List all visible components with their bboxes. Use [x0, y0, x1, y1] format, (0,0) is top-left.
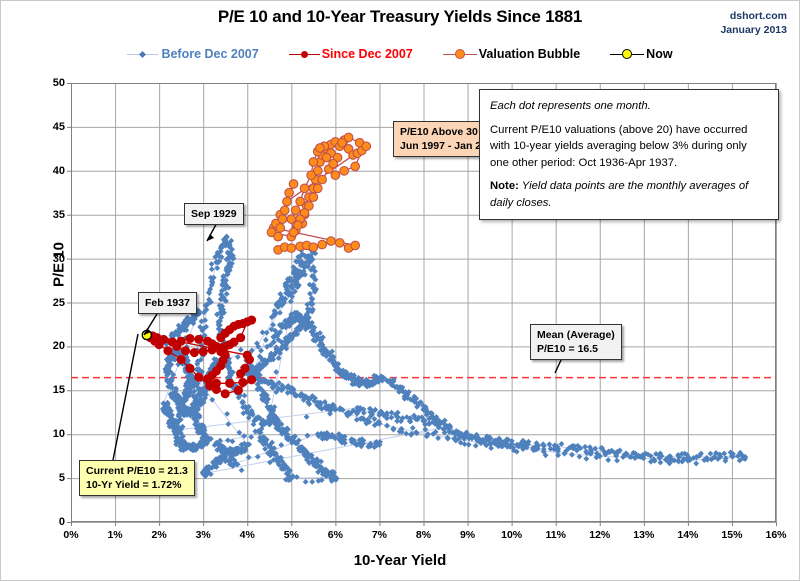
annotation-feb-1937: Feb 1937	[138, 292, 197, 314]
y-axis-tick: 45	[53, 121, 65, 133]
legend-line-icon	[443, 54, 455, 55]
x-axis-tick: 12%	[589, 529, 610, 541]
legend-marker-icon	[455, 49, 465, 59]
x-axis-tick: 15%	[721, 529, 742, 541]
y-axis-tick: 15	[53, 384, 65, 396]
y-axis-tick: 50	[53, 77, 65, 89]
legend-label: Before Dec 2007	[161, 47, 258, 61]
y-axis-tick: 20	[53, 340, 65, 352]
legend-line-icon	[289, 54, 301, 55]
x-axis-tick: 13%	[633, 529, 654, 541]
x-axis-tick: 8%	[416, 529, 431, 541]
annotation-line-2: 10-Yr Yield = 1.72%	[86, 478, 188, 492]
chart-title: P/E 10 and 10-Year Treasury Yields Since…	[1, 7, 799, 27]
info-note-text: Yield data points are the monthly averag…	[490, 180, 748, 209]
y-axis-tick: 5	[59, 472, 65, 484]
legend-line-icon	[146, 54, 158, 55]
y-axis-tick: 25	[53, 297, 65, 309]
x-axis-title: 10-Year Yield	[1, 552, 799, 569]
annotation-current: Current P/E10 = 21.3 10-Yr Yield = 1.72%	[79, 460, 195, 496]
legend-item-now[interactable]: Now	[610, 47, 672, 61]
y-axis-tick: 0	[59, 516, 65, 528]
info-line-3: Note: Yield data points are the monthly …	[490, 178, 768, 211]
x-axis-tick: 10%	[501, 529, 522, 541]
credit-date: January 2013	[720, 23, 787, 37]
info-line-1: Each dot represents one month.	[490, 98, 768, 115]
legend-line-icon	[308, 54, 320, 55]
x-axis-tick: 11%	[545, 529, 565, 541]
legend-label: Now	[646, 47, 672, 61]
x-axis-tick: 0%	[63, 529, 78, 541]
legend-label: Since Dec 2007	[322, 47, 413, 61]
x-axis-tick: 14%	[677, 529, 698, 541]
legend-item-valuation-bubble[interactable]: Valuation Bubble	[443, 47, 580, 61]
legend-item-before-dec-2007[interactable]: Before Dec 2007	[127, 47, 258, 61]
x-axis-tick: 2%	[152, 529, 167, 541]
credit-block: dshort.com January 2013	[720, 9, 787, 37]
legend-marker-icon	[139, 50, 146, 57]
chart-legend: Before Dec 2007 Since Dec 2007 Valuation…	[1, 47, 799, 61]
y-axis-tick: 10	[53, 428, 65, 440]
x-axis-tick: 16%	[765, 529, 786, 541]
y-axis-tick: 30	[53, 253, 65, 265]
legend-marker-icon	[622, 49, 632, 59]
annotation-line-1: Current P/E10 = 21.3	[86, 464, 188, 478]
x-axis-tick: 4%	[240, 529, 255, 541]
info-note-label: Note:	[490, 180, 519, 192]
info-line-2: Current P/E10 valuations (above 20) have…	[490, 122, 768, 172]
info-box: Each dot represents one month. Current P…	[479, 89, 779, 220]
y-axis-tick: 40	[53, 165, 65, 177]
x-axis-tick: 5%	[284, 529, 299, 541]
legend-line-icon	[465, 54, 477, 55]
annotation-line-2: P/E10 = 16.5	[537, 342, 615, 356]
legend-line-icon	[610, 54, 622, 55]
credit-site: dshort.com	[720, 9, 787, 23]
annotation-mean: Mean (Average) P/E10 = 16.5	[530, 324, 622, 360]
legend-item-since-dec-2007[interactable]: Since Dec 2007	[289, 47, 413, 61]
x-axis-tick: 6%	[328, 529, 343, 541]
x-axis-tick: 7%	[372, 529, 387, 541]
y-axis-tick: 35	[53, 209, 65, 221]
legend-label: Valuation Bubble	[479, 47, 580, 61]
x-axis-tick: 9%	[460, 529, 475, 541]
annotation-sep-1929: Sep 1929	[184, 203, 244, 225]
x-axis-tick: 3%	[196, 529, 211, 541]
chart-root: P/E 10 and 10-Year Treasury Yields Since…	[0, 0, 800, 581]
legend-marker-icon	[301, 51, 308, 58]
annotation-line-1: Mean (Average)	[537, 328, 615, 342]
x-axis-tick: 1%	[107, 529, 122, 541]
legend-line-icon	[632, 54, 644, 55]
